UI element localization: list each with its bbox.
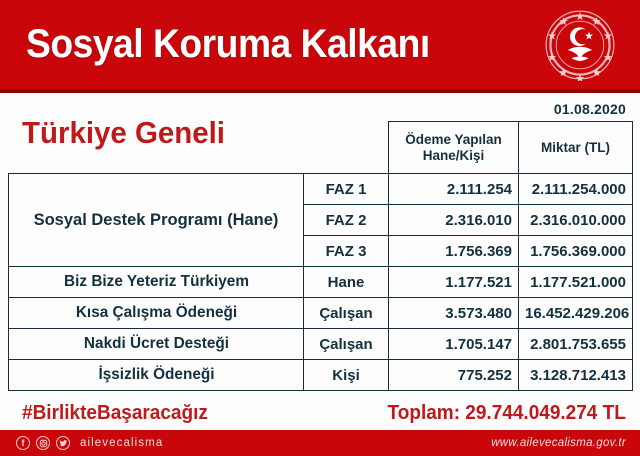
- row-count: 1.756.369: [389, 236, 519, 267]
- title-spacer-cell-2: [304, 122, 389, 174]
- row-count: 2.111.254: [389, 174, 519, 205]
- row-count: 775.252: [389, 360, 519, 391]
- row-count: 1.705.147: [389, 329, 519, 360]
- row-group-label-sosyal-destek: Sosyal Destek Programı (Hane): [9, 174, 304, 267]
- row-type: FAZ 2: [304, 205, 389, 236]
- report-date: 01.08.2020: [554, 101, 626, 117]
- row-label: İşsizlik Ödeneği: [14, 360, 297, 391]
- footer-bar: f ailevecalisma www.ailevecalisma.gov.tr: [0, 430, 640, 456]
- table-header-row: Ödeme Yapılan Hane/Kişi Miktar (TL): [9, 122, 633, 174]
- row-type: Hane: [304, 267, 389, 298]
- row-amount: 16.452.429.206: [519, 298, 633, 329]
- ministry-emblem-icon: [544, 9, 616, 81]
- social-support-table: Ödeme Yapılan Hane/Kişi Miktar (TL) Sosy…: [8, 121, 633, 391]
- row-label: Nakdi Ücret Desteği: [14, 329, 297, 360]
- row-type: FAZ 1: [304, 174, 389, 205]
- infographic-page: Sosyal Koruma Kalkanı: [0, 0, 640, 456]
- header-banner: Sosyal Koruma Kalkanı: [0, 0, 640, 93]
- column-header-count-line2: Hane/Kişi: [423, 148, 485, 163]
- page-title: Sosyal Koruma Kalkanı: [26, 22, 430, 67]
- table-row: İşsizlik Ödeneği Kişi 775.252 3.128.712.…: [9, 360, 633, 391]
- facebook-icon[interactable]: f: [16, 436, 30, 450]
- row-count: 3.573.480: [389, 298, 519, 329]
- row-type: FAZ 3: [304, 236, 389, 267]
- column-header-amount: Miktar (TL): [519, 122, 633, 174]
- table-row: Nakdi Ücret Desteği Çalışan 1.705.147 2.…: [9, 329, 633, 360]
- table-row: Biz Bize Yeteriz Türkiyem Hane 1.177.521…: [9, 267, 633, 298]
- row-type: Kişi: [304, 360, 389, 391]
- content-area: 01.08.2020 Türkiye Geneli Ödeme Yapılan …: [0, 93, 640, 397]
- row-amount: 3.128.712.413: [519, 360, 633, 391]
- footer-summary: #BirlikteBaşaracağız Toplam: 29.744.049.…: [0, 397, 640, 430]
- row-amount: 2.801.753.655: [519, 329, 633, 360]
- campaign-hashtag: #BirlikteBaşaracağız: [22, 402, 208, 425]
- row-type: Çalışan: [304, 298, 389, 329]
- website-url[interactable]: www.ailevecalisma.gov.tr: [491, 437, 626, 449]
- row-label: Kısa Çalışma Ödeneği: [14, 298, 297, 329]
- title-spacer-cell: [9, 122, 304, 174]
- row-amount: 1.756.369.000: [519, 236, 633, 267]
- social-handle: ailevecalisma: [80, 437, 163, 449]
- row-amount: 1.177.521.000: [519, 267, 633, 298]
- instagram-icon[interactable]: [36, 436, 50, 450]
- row-label: Biz Bize Yeteriz Türkiyem: [14, 267, 297, 298]
- column-header-count: Ödeme Yapılan Hane/Kişi: [389, 122, 519, 174]
- twitter-icon[interactable]: [56, 436, 70, 450]
- row-amount: 2.111.254.000: [519, 174, 633, 205]
- row-count: 1.177.521: [389, 267, 519, 298]
- total-amount: Toplam: 29.744.049.274 TL: [388, 402, 626, 425]
- table-row: Sosyal Destek Programı (Hane) FAZ 1 2.11…: [9, 174, 633, 205]
- table-row: Kısa Çalışma Ödeneği Çalışan 3.573.480 1…: [9, 298, 633, 329]
- row-count: 2.316.010: [389, 205, 519, 236]
- row-type: Çalışan: [304, 329, 389, 360]
- column-header-count-line1: Ödeme Yapılan: [405, 132, 502, 147]
- social-links: f ailevecalisma: [16, 436, 163, 450]
- row-amount: 2.316.010.000: [519, 205, 633, 236]
